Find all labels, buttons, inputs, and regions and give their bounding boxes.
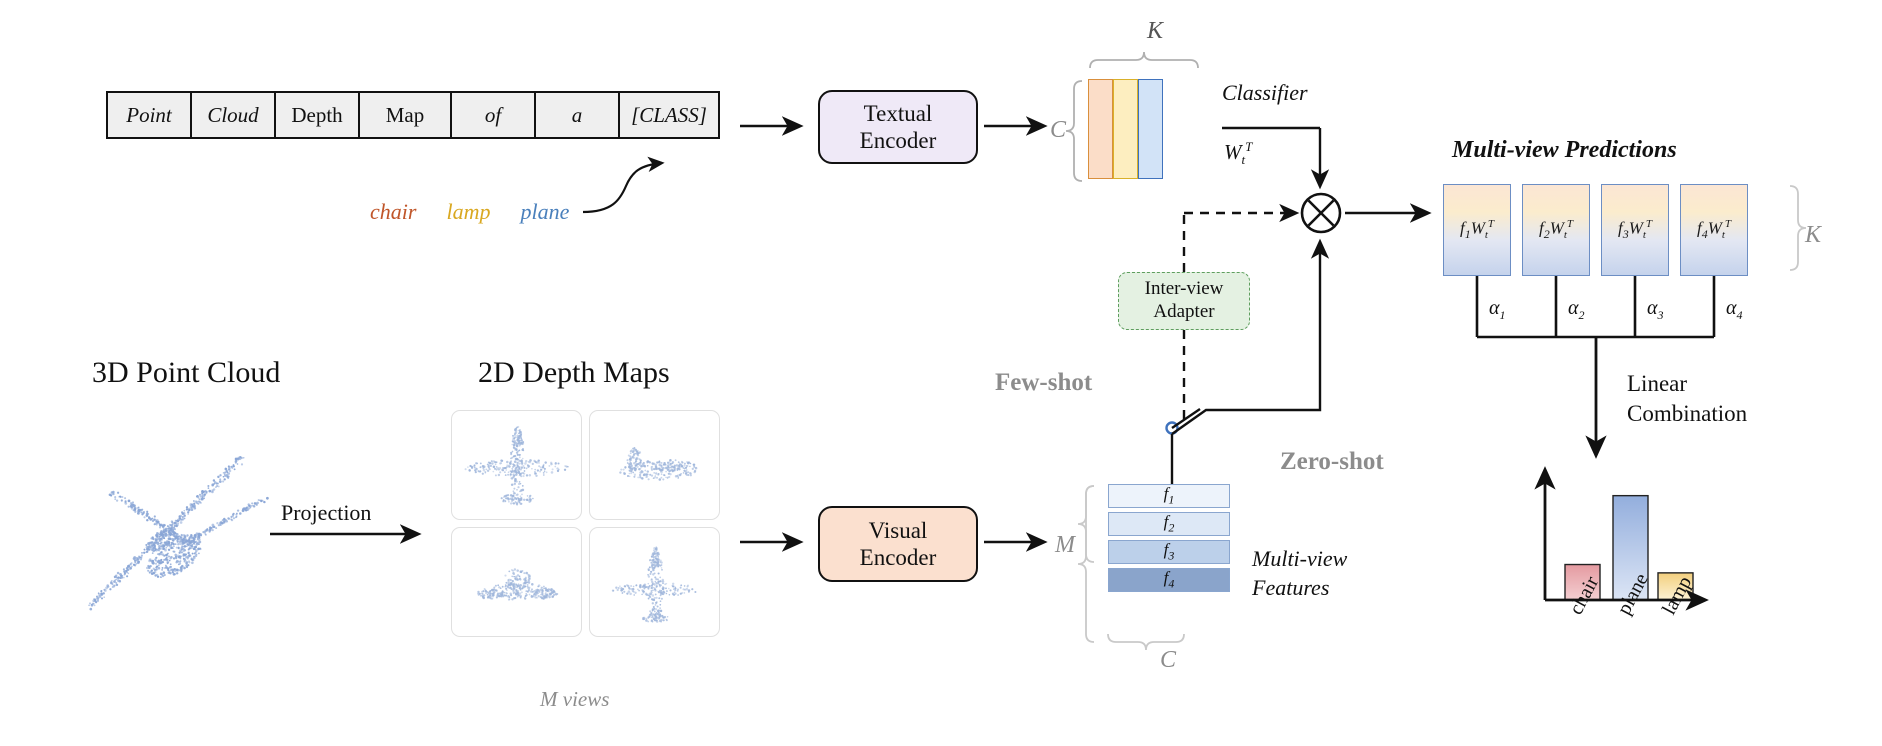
visual-encoder-label-line1: Visual	[869, 518, 928, 543]
prompt-token-3[interactable]: Map	[360, 93, 452, 137]
prediction-box-3: f3WtT	[1601, 184, 1669, 276]
prompt-token-1[interactable]: Cloud	[192, 93, 276, 137]
alpha-weight-3: α3	[1647, 297, 1664, 323]
depth-map-side-view	[589, 410, 720, 520]
visual-encoder-label-line2: Encoder	[860, 545, 937, 570]
prompt-token-4[interactable]: of	[452, 93, 536, 137]
prompt-token-5[interactable]: a	[536, 93, 620, 137]
point-cloud-title: 3D Point Cloud	[92, 356, 280, 390]
depth-map-top-view	[451, 410, 582, 520]
prompt-token-2[interactable]: Depth	[276, 93, 360, 137]
combination-line2: Combination	[1627, 401, 1747, 426]
class-word-list: chairlampplane	[370, 199, 569, 225]
point-cloud-visual	[70, 430, 290, 620]
class-word-chair[interactable]: chair	[370, 199, 416, 225]
alpha-weight-2: α2	[1568, 297, 1585, 323]
combination-line1: Linear	[1627, 371, 1687, 396]
features-label-line1: Multi-view	[1252, 546, 1347, 571]
classifier-brace-label-C: C	[1050, 117, 1066, 144]
prediction-box-4: f4WtT	[1680, 184, 1748, 276]
prompt-token-table: PointCloudDepthMapofa[CLASS]	[106, 91, 720, 139]
features-label-line2: Features	[1252, 575, 1329, 600]
adapter-label-line2: Adapter	[1153, 301, 1214, 322]
weight-sub-t: t	[1242, 152, 1246, 167]
feature-row-1: f1	[1108, 484, 1230, 508]
textual-encoder-label-line2: Encoder	[860, 128, 937, 153]
classifier-brace-label-K: K	[1147, 18, 1163, 45]
feature-row-2: f2	[1108, 512, 1230, 536]
alpha-weight-1: α1	[1489, 297, 1506, 323]
weight-W: W	[1224, 140, 1242, 164]
textual-encoder-box[interactable]: Textual Encoder	[818, 90, 978, 164]
prompt-token-0[interactable]: Point	[108, 93, 192, 137]
classifier-matrix	[1088, 79, 1163, 179]
multiview-feature-stack: f1f2f3f4	[1108, 484, 1230, 592]
inter-view-adapter-box[interactable]: Inter-view Adapter	[1118, 272, 1250, 330]
class-word-lamp[interactable]: lamp	[446, 199, 490, 225]
class-word-plane[interactable]: plane	[520, 199, 569, 225]
tensor-product-icon	[1300, 192, 1342, 234]
weight-sup-T: T	[1245, 139, 1252, 154]
prediction-box-2: f2WtT	[1522, 184, 1590, 276]
prediction-box-row: f1WtTf2WtTf3WtTf4WtT	[1443, 184, 1748, 276]
depth-map-front-view	[589, 527, 720, 637]
visual-encoder-box[interactable]: Visual Encoder	[818, 506, 978, 582]
m-views-caption: M views	[540, 687, 609, 712]
multiview-predictions-title: Multi-view Predictions	[1452, 137, 1677, 164]
prediction-box-1: f1WtT	[1443, 184, 1511, 276]
few-shot-label: Few-shot	[995, 369, 1092, 397]
alpha-weight-4: α4	[1726, 297, 1743, 323]
adapter-label-line1: Inter-view	[1145, 278, 1224, 299]
depth-maps-title: 2D Depth Maps	[478, 356, 670, 390]
feature-brace-label-C: C	[1160, 647, 1176, 674]
linear-combination-label: Linear Combination	[1627, 369, 1747, 430]
multiview-features-label: Multi-view Features	[1252, 545, 1347, 602]
classifier-weight-symbol: WtT	[1224, 139, 1252, 168]
feature-row-3: f3	[1108, 540, 1230, 564]
feature-row-4: f4	[1108, 568, 1230, 592]
classifier-label: Classifier	[1222, 80, 1308, 106]
predictions-brace-label-K: K	[1805, 222, 1821, 249]
classifier-column-0	[1088, 79, 1113, 179]
depth-map-grid	[451, 410, 720, 637]
depth-map-oblique-view	[451, 527, 582, 637]
classifier-column-1	[1113, 79, 1138, 179]
zero-shot-label: Zero-shot	[1280, 448, 1384, 476]
classifier-column-2	[1138, 79, 1163, 179]
prompt-token-6[interactable]: [CLASS]	[620, 93, 718, 137]
textual-encoder-label-line1: Textual	[864, 101, 933, 126]
feature-brace-label-M: M	[1055, 532, 1075, 559]
projection-label: Projection	[281, 500, 371, 526]
